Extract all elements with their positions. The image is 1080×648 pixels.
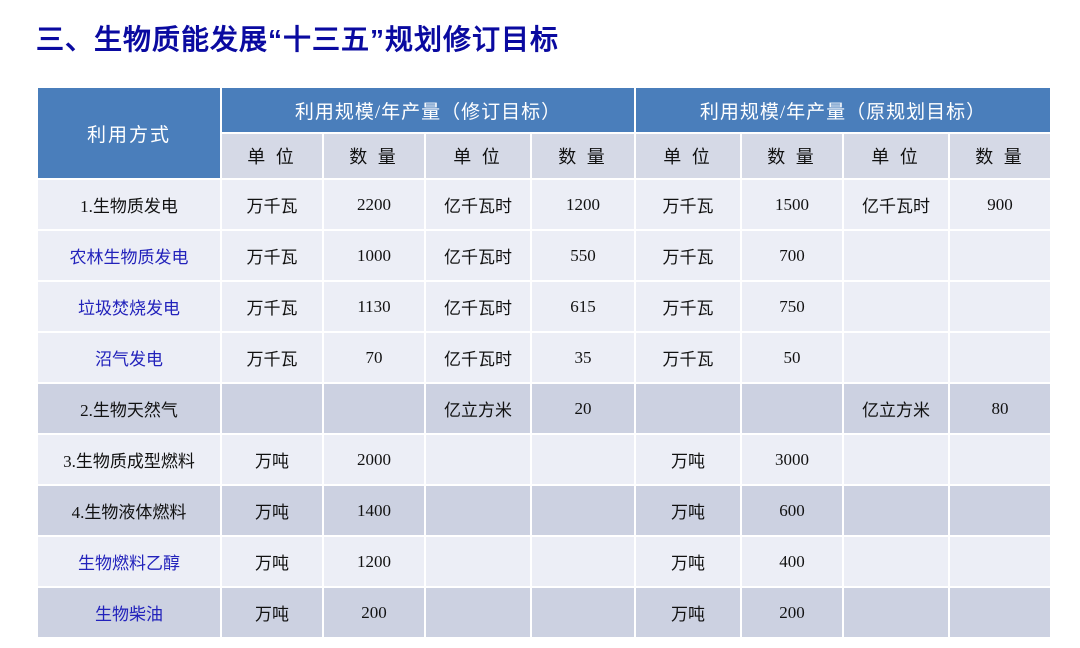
table-row: 2.生物天然气亿立方米20亿立方米80 — [38, 384, 1050, 433]
header-category: 利用方式 — [38, 88, 220, 178]
cell-original-qty-2 — [950, 486, 1050, 535]
cell-revised-qty-2 — [532, 486, 634, 535]
cell-category: 2.生物天然气 — [38, 384, 220, 433]
cell-original-qty-2 — [950, 333, 1050, 382]
cell-original-unit-2: 亿千瓦时 — [844, 180, 948, 229]
cell-revised-unit-1 — [222, 384, 322, 433]
slide-root: 三、生物质能发展“十三五”规划修订目标 利用方式 利用规模/年产量（修订目标） … — [0, 0, 1080, 648]
table-row: 沼气发电万千瓦70亿千瓦时35万千瓦50 — [38, 333, 1050, 382]
cell-original-qty-1: 600 — [742, 486, 842, 535]
cell-revised-unit-1: 万千瓦 — [222, 231, 322, 280]
cell-revised-qty-2: 35 — [532, 333, 634, 382]
cell-original-qty-1 — [742, 384, 842, 433]
cell-revised-unit-2: 亿千瓦时 — [426, 282, 530, 331]
cell-revised-qty-1: 2000 — [324, 435, 424, 484]
cell-original-qty-2 — [950, 282, 1050, 331]
header-revised-unit-1: 单 位 — [222, 134, 322, 178]
cell-original-qty-1: 400 — [742, 537, 842, 586]
cell-original-unit-2 — [844, 537, 948, 586]
cell-category: 农林生物质发电 — [38, 231, 220, 280]
header-original-unit-1: 单 位 — [636, 134, 740, 178]
cell-revised-unit-2 — [426, 588, 530, 637]
table-row: 生物燃料乙醇万吨1200万吨400 — [38, 537, 1050, 586]
cell-revised-qty-1: 1400 — [324, 486, 424, 535]
cell-revised-qty-1: 200 — [324, 588, 424, 637]
header-original-qty-1: 数 量 — [742, 134, 842, 178]
cell-revised-unit-2 — [426, 435, 530, 484]
table-body: 1.生物质发电万千瓦2200亿千瓦时1200万千瓦1500亿千瓦时900农林生物… — [38, 180, 1050, 637]
cell-revised-unit-2 — [426, 486, 530, 535]
cell-category: 生物燃料乙醇 — [38, 537, 220, 586]
cell-original-qty-2 — [950, 231, 1050, 280]
cell-revised-qty-1: 1130 — [324, 282, 424, 331]
cell-original-unit-1: 万千瓦 — [636, 282, 740, 331]
table-row: 农林生物质发电万千瓦1000亿千瓦时550万千瓦700 — [38, 231, 1050, 280]
cell-revised-unit-2 — [426, 537, 530, 586]
cell-category: 3.生物质成型燃料 — [38, 435, 220, 484]
cell-category: 垃圾焚烧发电 — [38, 282, 220, 331]
cell-category: 1.生物质发电 — [38, 180, 220, 229]
cell-original-unit-2 — [844, 486, 948, 535]
cell-original-qty-1: 200 — [742, 588, 842, 637]
targets-table-container: 利用方式 利用规模/年产量（修订目标） 利用规模/年产量（原规划目标） 单 位 … — [36, 86, 1046, 639]
cell-original-unit-2 — [844, 333, 948, 382]
cell-category: 4.生物液体燃料 — [38, 486, 220, 535]
cell-original-qty-1: 1500 — [742, 180, 842, 229]
header-group-original: 利用规模/年产量（原规划目标） — [636, 88, 1050, 132]
table-row: 1.生物质发电万千瓦2200亿千瓦时1200万千瓦1500亿千瓦时900 — [38, 180, 1050, 229]
cell-revised-unit-2: 亿立方米 — [426, 384, 530, 433]
cell-original-qty-1: 3000 — [742, 435, 842, 484]
cell-original-unit-1: 万千瓦 — [636, 180, 740, 229]
cell-category: 沼气发电 — [38, 333, 220, 382]
cell-category: 生物柴油 — [38, 588, 220, 637]
cell-original-qty-1: 750 — [742, 282, 842, 331]
cell-original-unit-1 — [636, 384, 740, 433]
targets-table: 利用方式 利用规模/年产量（修订目标） 利用规模/年产量（原规划目标） 单 位 … — [36, 86, 1052, 639]
table-row: 生物柴油万吨200万吨200 — [38, 588, 1050, 637]
cell-revised-unit-2: 亿千瓦时 — [426, 231, 530, 280]
table-head: 利用方式 利用规模/年产量（修订目标） 利用规模/年产量（原规划目标） 单 位 … — [38, 88, 1050, 178]
cell-original-unit-1: 万吨 — [636, 588, 740, 637]
header-revised-qty-2: 数 量 — [532, 134, 634, 178]
cell-revised-qty-2 — [532, 435, 634, 484]
page-title: 三、生物质能发展“十三五”规划修订目标 — [36, 18, 559, 58]
cell-revised-qty-1: 1000 — [324, 231, 424, 280]
cell-revised-unit-2: 亿千瓦时 — [426, 333, 530, 382]
cell-revised-qty-1 — [324, 384, 424, 433]
cell-revised-qty-2: 550 — [532, 231, 634, 280]
cell-revised-unit-1: 万吨 — [222, 588, 322, 637]
cell-original-unit-1: 万吨 — [636, 537, 740, 586]
cell-original-unit-1: 万吨 — [636, 435, 740, 484]
cell-original-unit-1: 万千瓦 — [636, 231, 740, 280]
table-row: 4.生物液体燃料万吨1400万吨600 — [38, 486, 1050, 535]
header-revised-qty-1: 数 量 — [324, 134, 424, 178]
cell-revised-qty-2: 615 — [532, 282, 634, 331]
header-original-unit-2: 单 位 — [844, 134, 948, 178]
cell-original-unit-2 — [844, 435, 948, 484]
cell-revised-qty-2 — [532, 588, 634, 637]
table-header-row-groups: 利用方式 利用规模/年产量（修订目标） 利用规模/年产量（原规划目标） — [38, 88, 1050, 132]
cell-original-unit-2 — [844, 588, 948, 637]
cell-original-qty-1: 50 — [742, 333, 842, 382]
cell-original-qty-2: 80 — [950, 384, 1050, 433]
cell-original-qty-2: 900 — [950, 180, 1050, 229]
table-row: 垃圾焚烧发电万千瓦1130亿千瓦时615万千瓦750 — [38, 282, 1050, 331]
cell-revised-qty-2: 1200 — [532, 180, 634, 229]
cell-original-qty-2 — [950, 435, 1050, 484]
cell-original-unit-2 — [844, 231, 948, 280]
cell-revised-unit-1: 万吨 — [222, 486, 322, 535]
header-original-qty-2: 数 量 — [950, 134, 1050, 178]
cell-revised-qty-1: 70 — [324, 333, 424, 382]
cell-original-unit-2: 亿立方米 — [844, 384, 948, 433]
cell-original-unit-1: 万吨 — [636, 486, 740, 535]
cell-original-qty-2 — [950, 537, 1050, 586]
cell-revised-qty-2 — [532, 537, 634, 586]
header-group-revised: 利用规模/年产量（修订目标） — [222, 88, 634, 132]
cell-revised-unit-2: 亿千瓦时 — [426, 180, 530, 229]
cell-original-qty-1: 700 — [742, 231, 842, 280]
cell-revised-qty-2: 20 — [532, 384, 634, 433]
cell-original-unit-2 — [844, 282, 948, 331]
cell-revised-qty-1: 1200 — [324, 537, 424, 586]
cell-revised-qty-1: 2200 — [324, 180, 424, 229]
cell-original-unit-1: 万千瓦 — [636, 333, 740, 382]
table-row: 3.生物质成型燃料万吨2000万吨3000 — [38, 435, 1050, 484]
cell-revised-unit-1: 万千瓦 — [222, 333, 322, 382]
header-revised-unit-2: 单 位 — [426, 134, 530, 178]
cell-revised-unit-1: 万吨 — [222, 537, 322, 586]
cell-original-qty-2 — [950, 588, 1050, 637]
cell-revised-unit-1: 万吨 — [222, 435, 322, 484]
cell-revised-unit-1: 万千瓦 — [222, 282, 322, 331]
cell-revised-unit-1: 万千瓦 — [222, 180, 322, 229]
